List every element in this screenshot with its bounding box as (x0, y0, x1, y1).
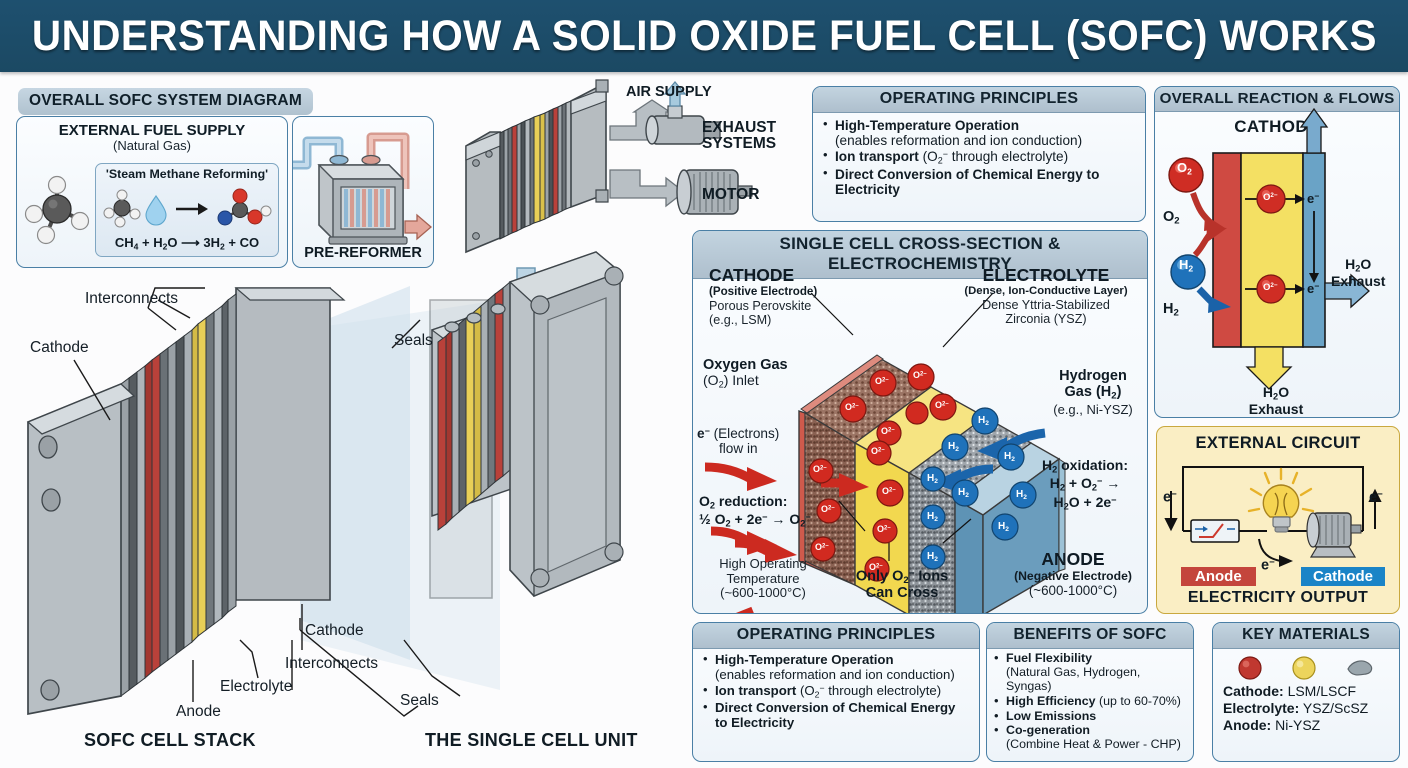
stack-label-interconnects-bottom: Interconnects (285, 655, 378, 673)
overall-reaction-panel: OVERALL REACTION & FLOWS CATHODE (1154, 86, 1400, 418)
h2-bubble-label: H2 (1179, 257, 1193, 273)
list-item: High-Temperature Operation (enables refo… (702, 653, 970, 683)
key-materials-rows: Cathode: LSM/LSCF Electrolyte: YSZ/ScSZ … (1213, 681, 1399, 734)
exhaust-systems-label: EXHAUSTSYSTEMS (702, 120, 794, 153)
h2o-exhaust-bottom: H2OExhaust (1231, 385, 1321, 417)
anode-text-block: ANODE (Negative Electrode) (~600-1000°C) (1003, 549, 1143, 598)
stack-label-cathode-top: Cathode (30, 339, 89, 357)
stack-label-anode: Anode (176, 703, 221, 721)
table-row: Cathode: LSM/LSCF (1223, 683, 1389, 700)
list-item: Direct Conversion of Chemical Energy to … (822, 167, 1136, 197)
caption-single-cell-unit: THE SINGLE CELL UNIT (425, 730, 638, 751)
benefits-title: BENEFITS OF SOFC (987, 623, 1193, 649)
cathode-title: CATHODE (709, 265, 869, 286)
cathode-chip: Cathode (1301, 567, 1385, 586)
cathode-sub: (Positive Electrode) (709, 285, 869, 298)
high-operating-temperature-label: High OperatingTemperature(~600-1000°C) (697, 557, 829, 601)
fuel-supply-subtitle: (Natural Gas) (17, 138, 287, 153)
list-item: Ion transport (O2− through electrolyte) (822, 149, 1136, 166)
h2-inflow-label: H2 (1163, 301, 1179, 319)
stack-label-seals-bottom: Seals (400, 692, 439, 710)
hydrogen-gas-label: HydrogenGas (H2) (e.g., Ni-YSZ) (1039, 369, 1147, 417)
op-bottom-title: OPERATING PRINCIPLES (693, 623, 979, 649)
fuel-supply-title: EXTERNAL FUEL SUPPLY (17, 122, 287, 139)
anode-title: ANODE (1003, 549, 1143, 570)
list-item: Direct Conversion of Chemical Energy to … (702, 701, 970, 731)
arrow-to-exhaust (610, 100, 670, 140)
cross-section-panel: SINGLE CELL CROSS-SECTION & ELECTROCHEMI… (692, 230, 1148, 614)
op-bottom-list: High-Temperature Operation (enables refo… (702, 653, 970, 730)
electrolyte-title: ELECTROLYTE (953, 265, 1139, 286)
stack-label-interconnects-top: Interconnects (85, 290, 178, 308)
single-cell-unit-illustration (430, 252, 623, 598)
o2-reduction-label: O2 reduction:½ O2 + 2e− → O2− (699, 493, 859, 530)
stack-label-seals-top: Seals (394, 332, 433, 350)
smr-equation: CH4 + H2O ⟶ 3H2 + CO (96, 235, 278, 251)
steam-methane-reforming-box: 'Steam Methane Reforming' (95, 163, 279, 257)
list-item: Low Emissions (993, 710, 1187, 724)
electricity-output-label: ELECTRICITY OUTPUT (1157, 589, 1399, 607)
ion-label-top: O2− (1263, 192, 1278, 203)
electrons-flow-in-label: e− (Electrons)flow in (697, 427, 827, 457)
list-item: Ion transport (O2− through electrolyte) (702, 684, 970, 700)
arrow-down-to-single-cell (506, 268, 546, 358)
key-materials-swatches (1226, 655, 1386, 681)
cathode-note: Porous Perovskite(e.g., LSM) (709, 300, 869, 328)
only-ions-label: Only O2− IonsCan Cross (843, 569, 961, 602)
reforming-reaction-icon (100, 184, 276, 232)
op-top-list: High-Temperature Operation (enables refo… (822, 118, 1136, 197)
stack-label-electrolyte: Electrolyte (220, 678, 292, 696)
key-materials-panel: KEY MATERIALS Cathode: LSM/LSCF Electrol… (1212, 622, 1400, 762)
operating-principles-panel-top: OPERATING PRINCIPLES High-Temperature Op… (812, 86, 1146, 222)
overall-reaction-diagram (1155, 87, 1400, 418)
operating-principles-panel-bottom: OPERATING PRINCIPLES High-Temperature Op… (692, 622, 980, 762)
benefits-list: Fuel Flexibility (Natural Gas, Hydrogen,… (993, 652, 1187, 752)
h2o-exhaust-right: H2OExhaust (1331, 257, 1385, 289)
electron-label-bottom: e− (1307, 281, 1319, 296)
list-item: High Efficiency (up to 60-70%) (993, 695, 1187, 709)
electrolyte-note: Dense Yttria-StabilizedZirconia (YSZ) (953, 299, 1139, 327)
methane-molecule-icon (23, 171, 95, 249)
anode-temp: (~600-1000°C) (1003, 583, 1143, 598)
electrolyte-sub: (Dense, Ion-Conductive Layer) (953, 285, 1139, 297)
list-item: High-Temperature Operation (enables refo… (822, 118, 1136, 148)
list-item: Fuel Flexibility (Natural Gas, Hydrogen,… (993, 652, 1187, 694)
smr-title: 'Steam Methane Reforming' (96, 167, 278, 181)
pre-reformer-panel: PRE-REFORMER (292, 116, 434, 268)
benefits-panel: BENEFITS OF SOFC Fuel Flexibility (Natur… (986, 622, 1194, 762)
list-item: Co-generation (Combine Heat & Power - CH… (993, 724, 1187, 752)
external-circuit-panel: EXTERNAL CIRCUIT (1156, 426, 1400, 614)
infographic-root: UNDERSTANDING HOW A SOLID OXIDE FUEL CEL… (0, 0, 1408, 768)
section-chip-system-diagram: OVERALL SOFC SYSTEM DIAGRAM (18, 88, 313, 115)
electron-left-label: e− (1163, 489, 1177, 505)
cathode-text-block: CATHODE (Positive Electrode) Porous Pero… (709, 265, 869, 328)
op-top-title: OPERATING PRINCIPLES (813, 87, 1145, 113)
ion-label-bottom: O2− (1263, 282, 1278, 293)
pre-reformer-label: PRE-REFORMER (293, 245, 433, 261)
page-title: UNDERSTANDING HOW A SOLID OXIDE FUEL CEL… (31, 12, 1376, 61)
air-supply-label: AIR SUPPLY (626, 84, 712, 100)
o2-bubble-label: O2 (1177, 160, 1192, 176)
table-row: Anode: Ni-YSZ (1223, 717, 1389, 734)
motor-label: MOTOR (702, 186, 759, 204)
electron-mid-label: e− (1261, 557, 1275, 573)
h2-oxidation-label: H2 oxidation:H2 + O2− →H2O + 2e− (1023, 457, 1147, 512)
anode-chip: Anode (1181, 567, 1256, 586)
stack-module-icon (466, 80, 608, 252)
arrow-to-motor (610, 170, 684, 206)
external-fuel-supply-panel: EXTERNAL FUEL SUPPLY (Natural Gas) 'Stea… (16, 116, 288, 268)
electrolyte-text-block: ELECTROLYTE (Dense, Ion-Conductive Layer… (953, 265, 1139, 327)
table-row: Electrolyte: YSZ/ScSZ (1223, 700, 1389, 717)
anode-sub: (Negative Electrode) (1003, 569, 1143, 583)
electron-right-label: e− (1369, 489, 1383, 505)
o2-inflow-label: O2 (1163, 209, 1180, 227)
oxygen-gas-label: Oxygen Gas (O2) Inlet (703, 357, 823, 390)
title-bar: UNDERSTANDING HOW A SOLID OXIDE FUEL CEL… (0, 0, 1408, 72)
electron-label-top: e− (1307, 191, 1319, 206)
stack-label-cathode-bottom: Cathode (305, 622, 364, 640)
key-materials-title: KEY MATERIALS (1213, 623, 1399, 649)
caption-sofc-cell-stack: SOFC CELL STACK (84, 730, 256, 751)
